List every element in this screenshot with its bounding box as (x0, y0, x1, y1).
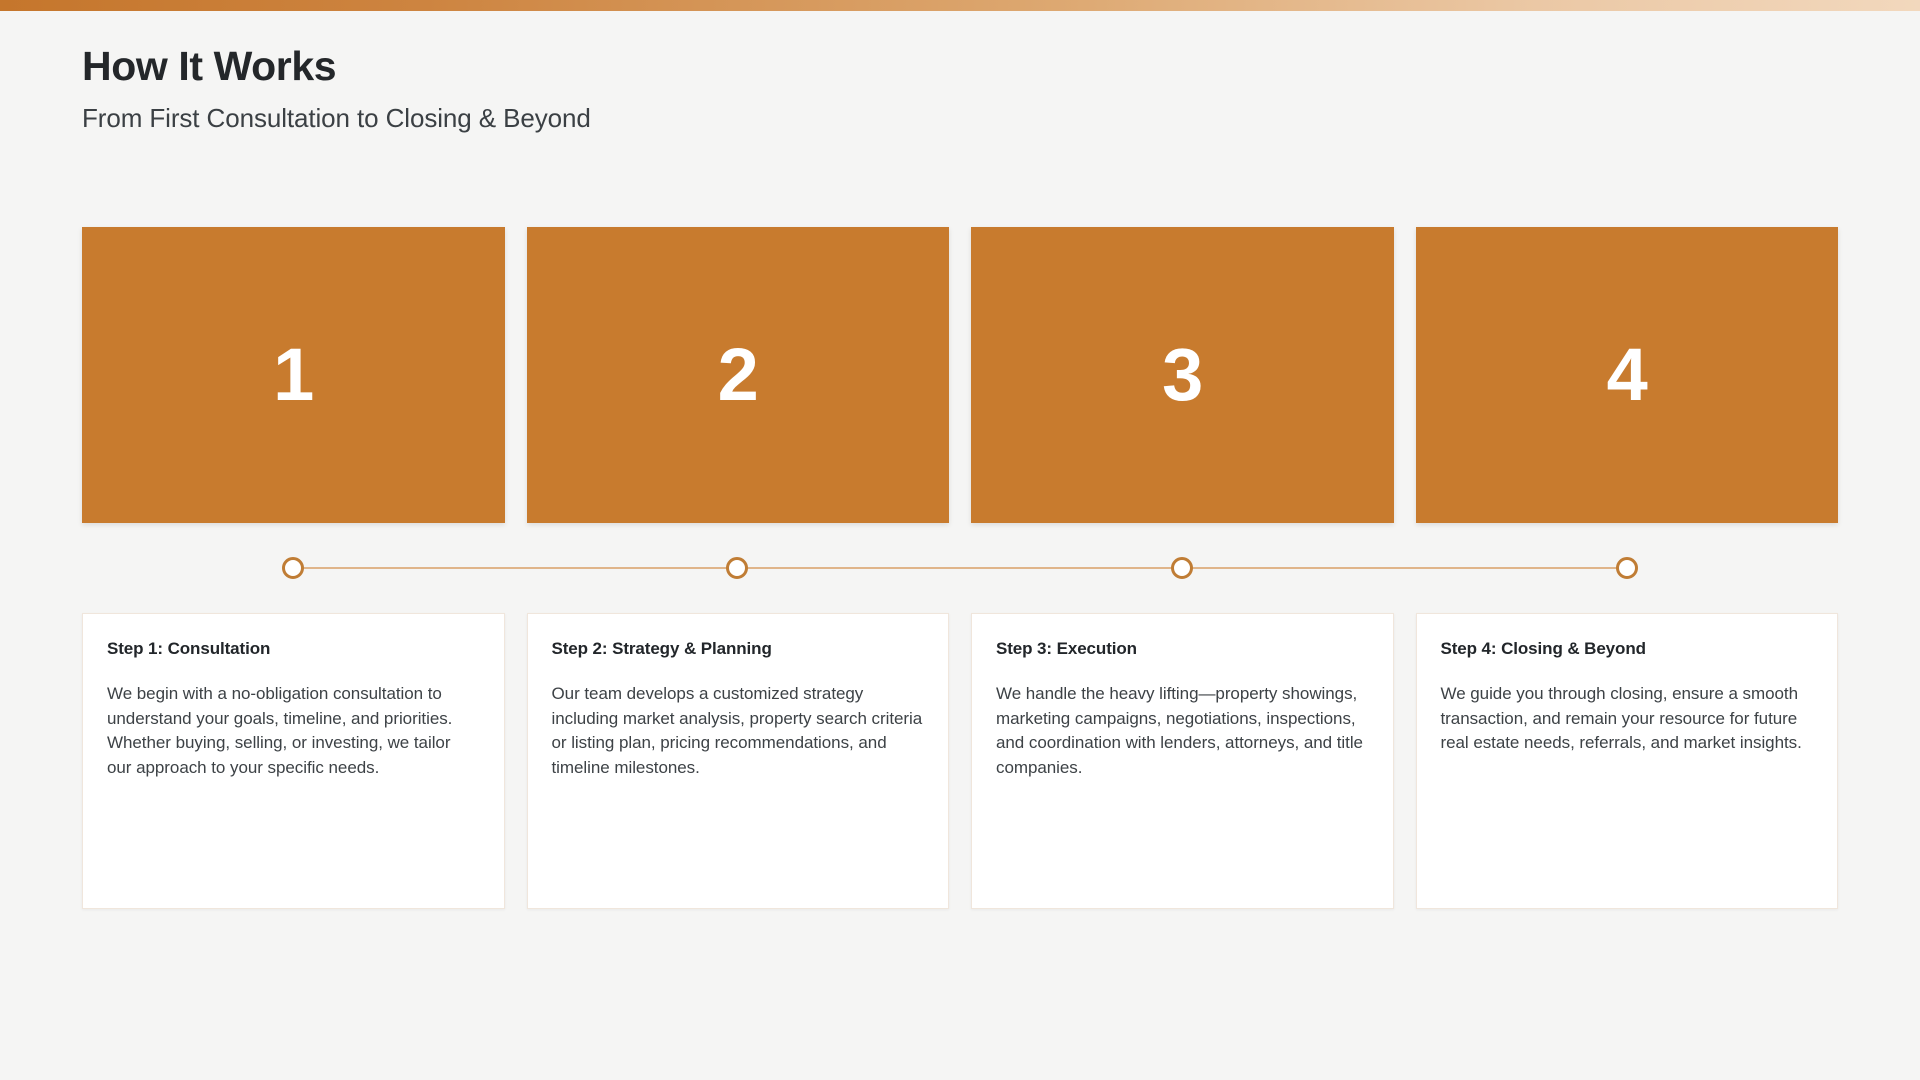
step-number-4: 4 (1607, 338, 1647, 412)
detail-body-3: We handle the heavy lifting—property sho… (996, 660, 1369, 780)
step-card-3[interactable]: 3 (971, 227, 1394, 523)
timeline-node-2[interactable] (726, 557, 748, 579)
page-header: How It Works From First Consultation to … (82, 42, 1682, 134)
detail-title-4: Step 4: Closing & Beyond (1441, 638, 1814, 660)
detail-card-4: Step 4: Closing & Beyond We guide you th… (1416, 613, 1839, 909)
detail-body-4: We guide you through closing, ensure a s… (1441, 660, 1814, 756)
timeline-node-4[interactable] (1616, 557, 1638, 579)
detail-card-1: Step 1: Consultation We begin with a no-… (82, 613, 505, 909)
how-it-works-page: How It Works From First Consultation to … (0, 0, 1920, 1080)
step-number-2: 2 (718, 338, 758, 412)
detail-title-1: Step 1: Consultation (107, 638, 480, 660)
step-card-4[interactable]: 4 (1416, 227, 1839, 523)
step-visual-cards: 1 2 3 4 (82, 227, 1838, 523)
detail-body-2: Our team develops a customized strategy … (552, 660, 925, 780)
timeline-node-1[interactable] (282, 557, 304, 579)
page-title: How It Works (82, 42, 1682, 90)
detail-body-1: We begin with a no-obligation consultati… (107, 660, 480, 780)
step-number-1: 1 (273, 338, 313, 412)
page-subtitle: From First Consultation to Closing & Bey… (82, 90, 1682, 134)
step-card-2[interactable]: 2 (527, 227, 950, 523)
detail-title-3: Step 3: Execution (996, 638, 1369, 660)
timeline-connector-line (293, 567, 1628, 569)
step-detail-cards: Step 1: Consultation We begin with a no-… (82, 613, 1838, 909)
detail-card-2: Step 2: Strategy & Planning Our team dev… (527, 613, 950, 909)
detail-card-3: Step 3: Execution We handle the heavy li… (971, 613, 1394, 909)
step-card-1[interactable]: 1 (82, 227, 505, 523)
timeline-node-3[interactable] (1171, 557, 1193, 579)
progress-timeline (82, 545, 1838, 591)
step-number-3: 3 (1162, 338, 1202, 412)
detail-title-2: Step 2: Strategy & Planning (552, 638, 925, 660)
top-accent-gradient-bar (0, 0, 1920, 11)
